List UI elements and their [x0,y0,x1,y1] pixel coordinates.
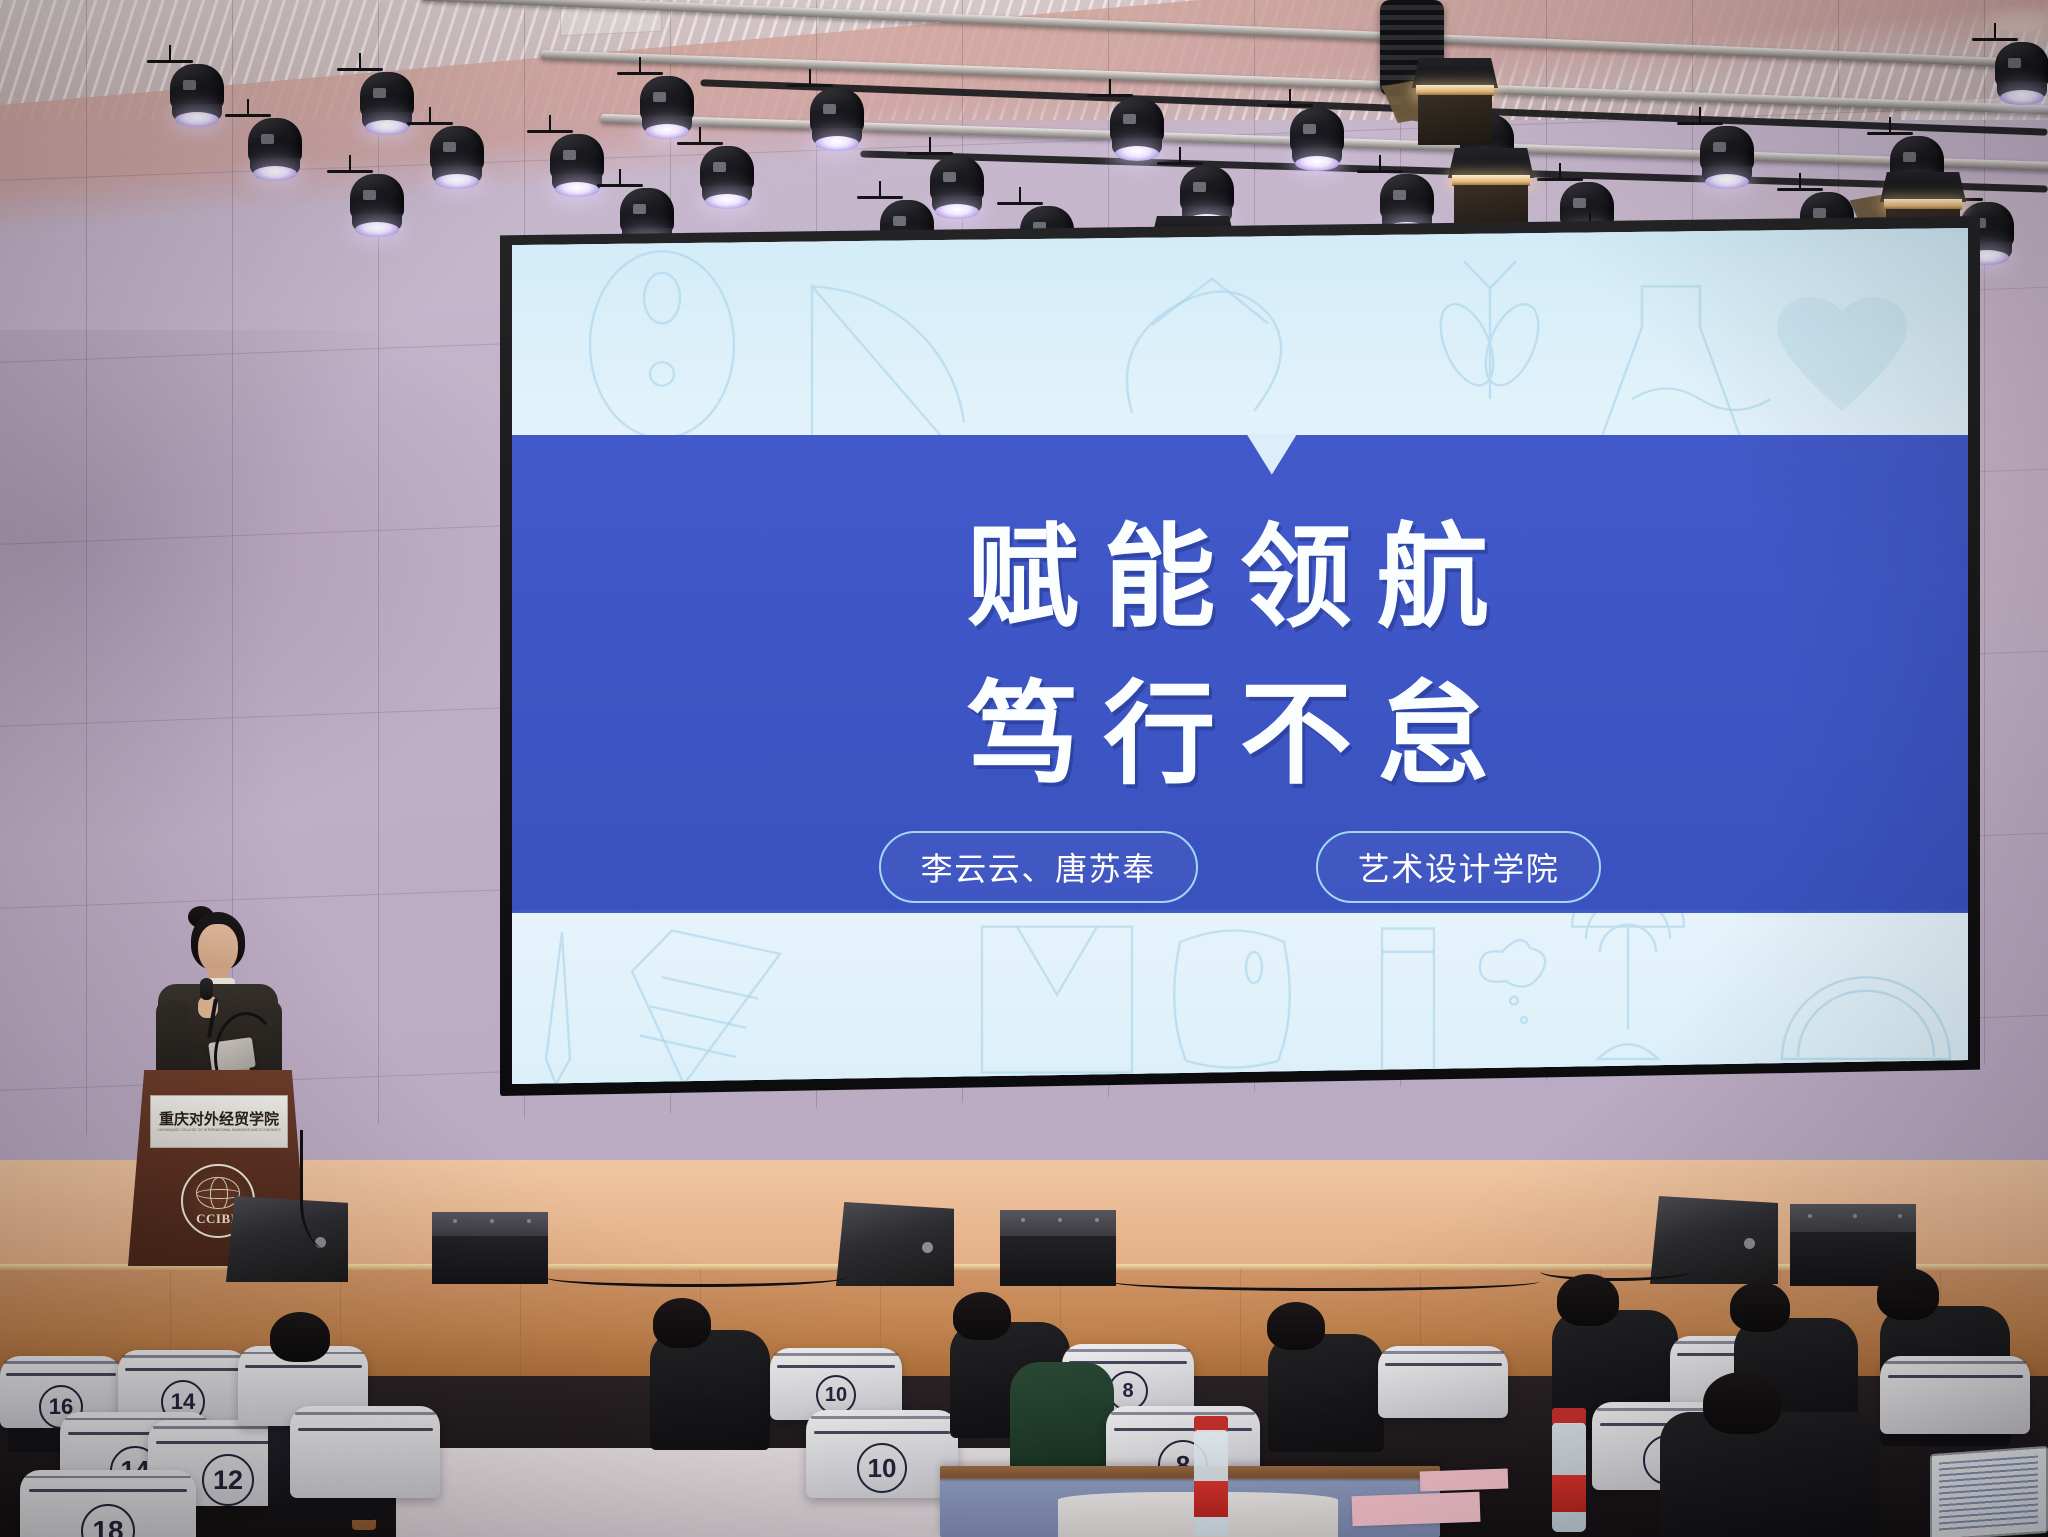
led-screen: 赋能领航 笃行不怠 李云云、唐苏奉 艺术设计学院 [512,228,1968,1084]
doodle-group-bottom [512,913,1968,1084]
audience-head [953,1292,1011,1340]
stage-amplifier [432,1212,548,1284]
stage-cable [1110,1272,1540,1291]
audience-member [1268,1334,1384,1452]
desk-pink-paper [1352,1492,1481,1526]
podium-nameplate-cn: 重庆对外经贸学院 [159,1112,279,1127]
seat [1880,1356,2030,1434]
slide-top-decoration-band [512,228,1968,442]
stage-cable [546,1268,846,1287]
desk-pink-paper [1420,1468,1509,1491]
audience-head [1877,1268,1939,1320]
auditorium-scene: 赋能领航 笃行不怠 李云云、唐苏奉 艺术设计学院 [0,0,2048,1537]
water-bottle [1194,1416,1228,1536]
stage-amplifier [1000,1210,1116,1286]
audience-laptop [1930,1450,2048,1537]
badge-department: 艺术设计学院 [1316,831,1602,903]
audience-head [1703,1372,1781,1434]
water-bottle [1552,1408,1586,1532]
podium-nameplate: 重庆对外经贸学院 CHONGQING COLLEGE OF INTERNATIO… [150,1095,289,1148]
presentation-slide: 赋能领航 笃行不怠 李云云、唐苏奉 艺术设计学院 [512,228,1968,1084]
audience-head [270,1312,330,1362]
audience-member [650,1330,770,1450]
audience-head [1267,1302,1325,1350]
slide-headline-line-2: 笃行不怠 [512,644,1968,806]
slide-bottom-decoration-band [512,913,1968,1084]
audience-head [1557,1274,1619,1326]
podium-nameplate-en: CHONGQING COLLEGE OF INTERNATIONAL BUSIN… [157,1129,280,1132]
led-screen-frame: 赋能领航 笃行不怠 李云云、唐苏奉 艺术设计学院 [500,216,1980,1096]
seat [1378,1346,1508,1418]
audience-head [653,1298,711,1348]
badge-presenters: 李云云、唐苏奉 [879,831,1198,903]
slide-headline-line-1: 赋能领航 [512,487,1968,649]
seat-number: 18 [81,1504,135,1537]
seat-number: 10 [857,1443,907,1493]
seat: 10 [806,1410,958,1498]
seat [290,1406,440,1498]
microphone-head [200,978,213,1000]
audience-member-foreground [1660,1412,1880,1537]
seat: 18 [20,1470,196,1537]
mic-cable [300,1130,373,1250]
audience-head [1730,1282,1790,1332]
stage-monitor-speaker [836,1202,954,1286]
wall-shadow [0,330,560,850]
stage-cable [1540,1262,1690,1281]
seat-number: 12 [202,1454,254,1506]
doodle-group-top [512,228,1968,442]
face [198,924,238,974]
slide-badge-row: 李云云、唐苏奉 艺术设计学院 [512,831,1968,903]
